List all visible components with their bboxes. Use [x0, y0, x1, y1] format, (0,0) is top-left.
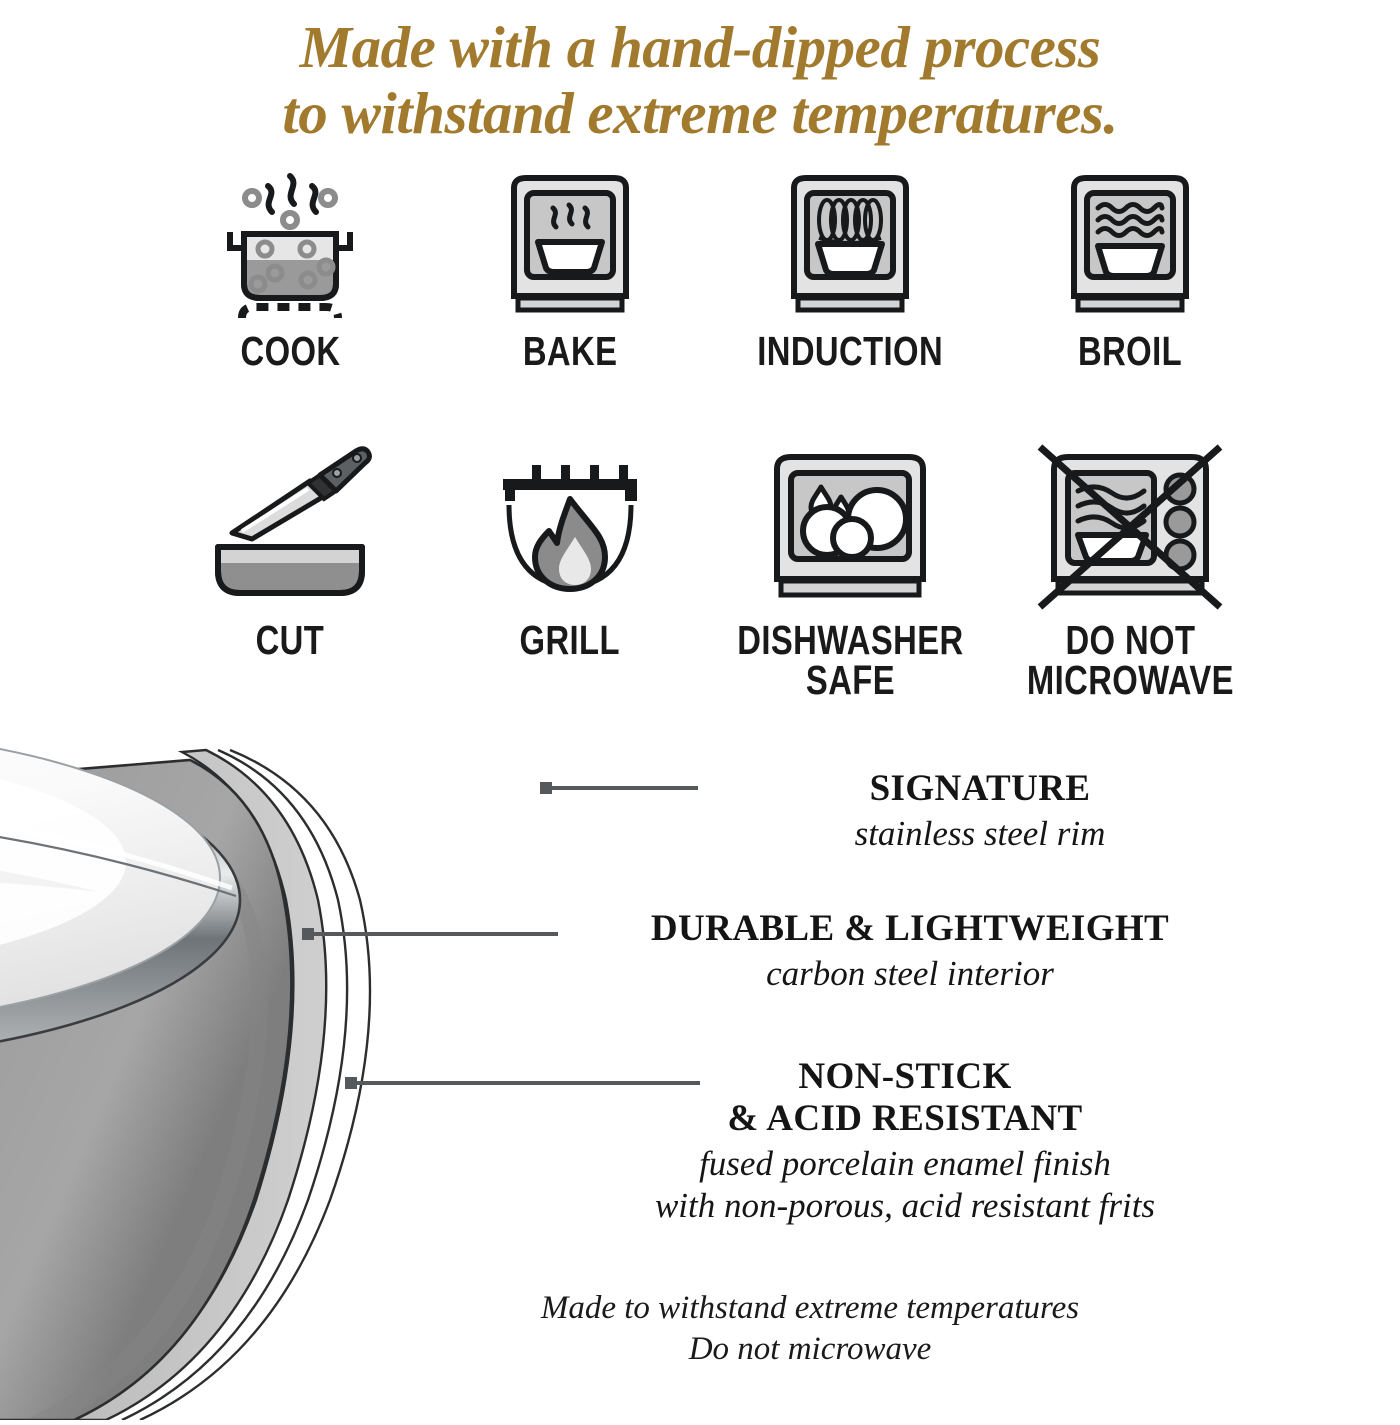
headline-line-1: Made with a hand-dipped process — [0, 14, 1400, 80]
footnote-text: Made to withstand extreme temperatures D… — [440, 1288, 1180, 1370]
page-title: Made with a hand-dipped process to withs… — [0, 14, 1400, 146]
microwave-crossed-out-icon — [1030, 443, 1230, 615]
callout-durable-subtitle: carbon steel interior — [560, 953, 1260, 995]
callout-durable-title: DURABLE & LIGHTWEIGHT — [560, 908, 1260, 950]
icon-cell-bake: BAKE — [430, 168, 710, 371]
grill-flame-icon — [475, 443, 665, 615]
icon-label-broil: BROIL — [1078, 332, 1182, 371]
oven-broil-icon — [1040, 168, 1220, 326]
icon-cell-dishwasher: DISHWASHER SAFE — [710, 443, 990, 700]
icon-label-bake: BAKE — [523, 332, 618, 371]
headline-line-2: to withstand extreme temperatures. — [0, 80, 1400, 146]
callout-signature-title: SIGNATURE — [700, 768, 1260, 810]
callout-signature: SIGNATURE stainless steel rim — [700, 768, 1260, 855]
callout-signature-subtitle: stainless steel rim — [700, 813, 1260, 855]
icon-row-1: COOK — [150, 168, 1270, 371]
icon-cell-do-not-microwave: DO NOT MICROWAVE — [990, 443, 1270, 700]
icon-label-cook: COOK — [240, 332, 340, 371]
icon-label-do-not-microwave: DO NOT MICROWAVE — [1026, 621, 1233, 700]
icon-cell-broil: BROIL — [990, 168, 1270, 371]
icon-label-dishwasher: DISHWASHER SAFE — [737, 621, 963, 700]
icon-cell-cook: COOK — [150, 168, 430, 371]
knife-over-pan-icon — [190, 443, 390, 615]
callout-nonstick-subtitle: fused porcelain enamel finish with non-p… — [545, 1143, 1265, 1227]
callout-durable: DURABLE & LIGHTWEIGHT carbon steel inter… — [560, 908, 1260, 995]
callout-nonstick-title: NON-STICK & ACID RESISTANT — [545, 1056, 1265, 1140]
pot-boiling-icon — [200, 168, 380, 326]
icon-cell-induction: INDUCTION — [710, 168, 990, 371]
dishwasher-icon — [755, 443, 945, 615]
oven-induction-coil-icon — [760, 168, 940, 326]
callout-nonstick: NON-STICK & ACID RESISTANT fused porcela… — [545, 1056, 1265, 1227]
icon-label-induction: INDUCTION — [757, 332, 943, 371]
oven-bake-icon — [480, 168, 660, 326]
